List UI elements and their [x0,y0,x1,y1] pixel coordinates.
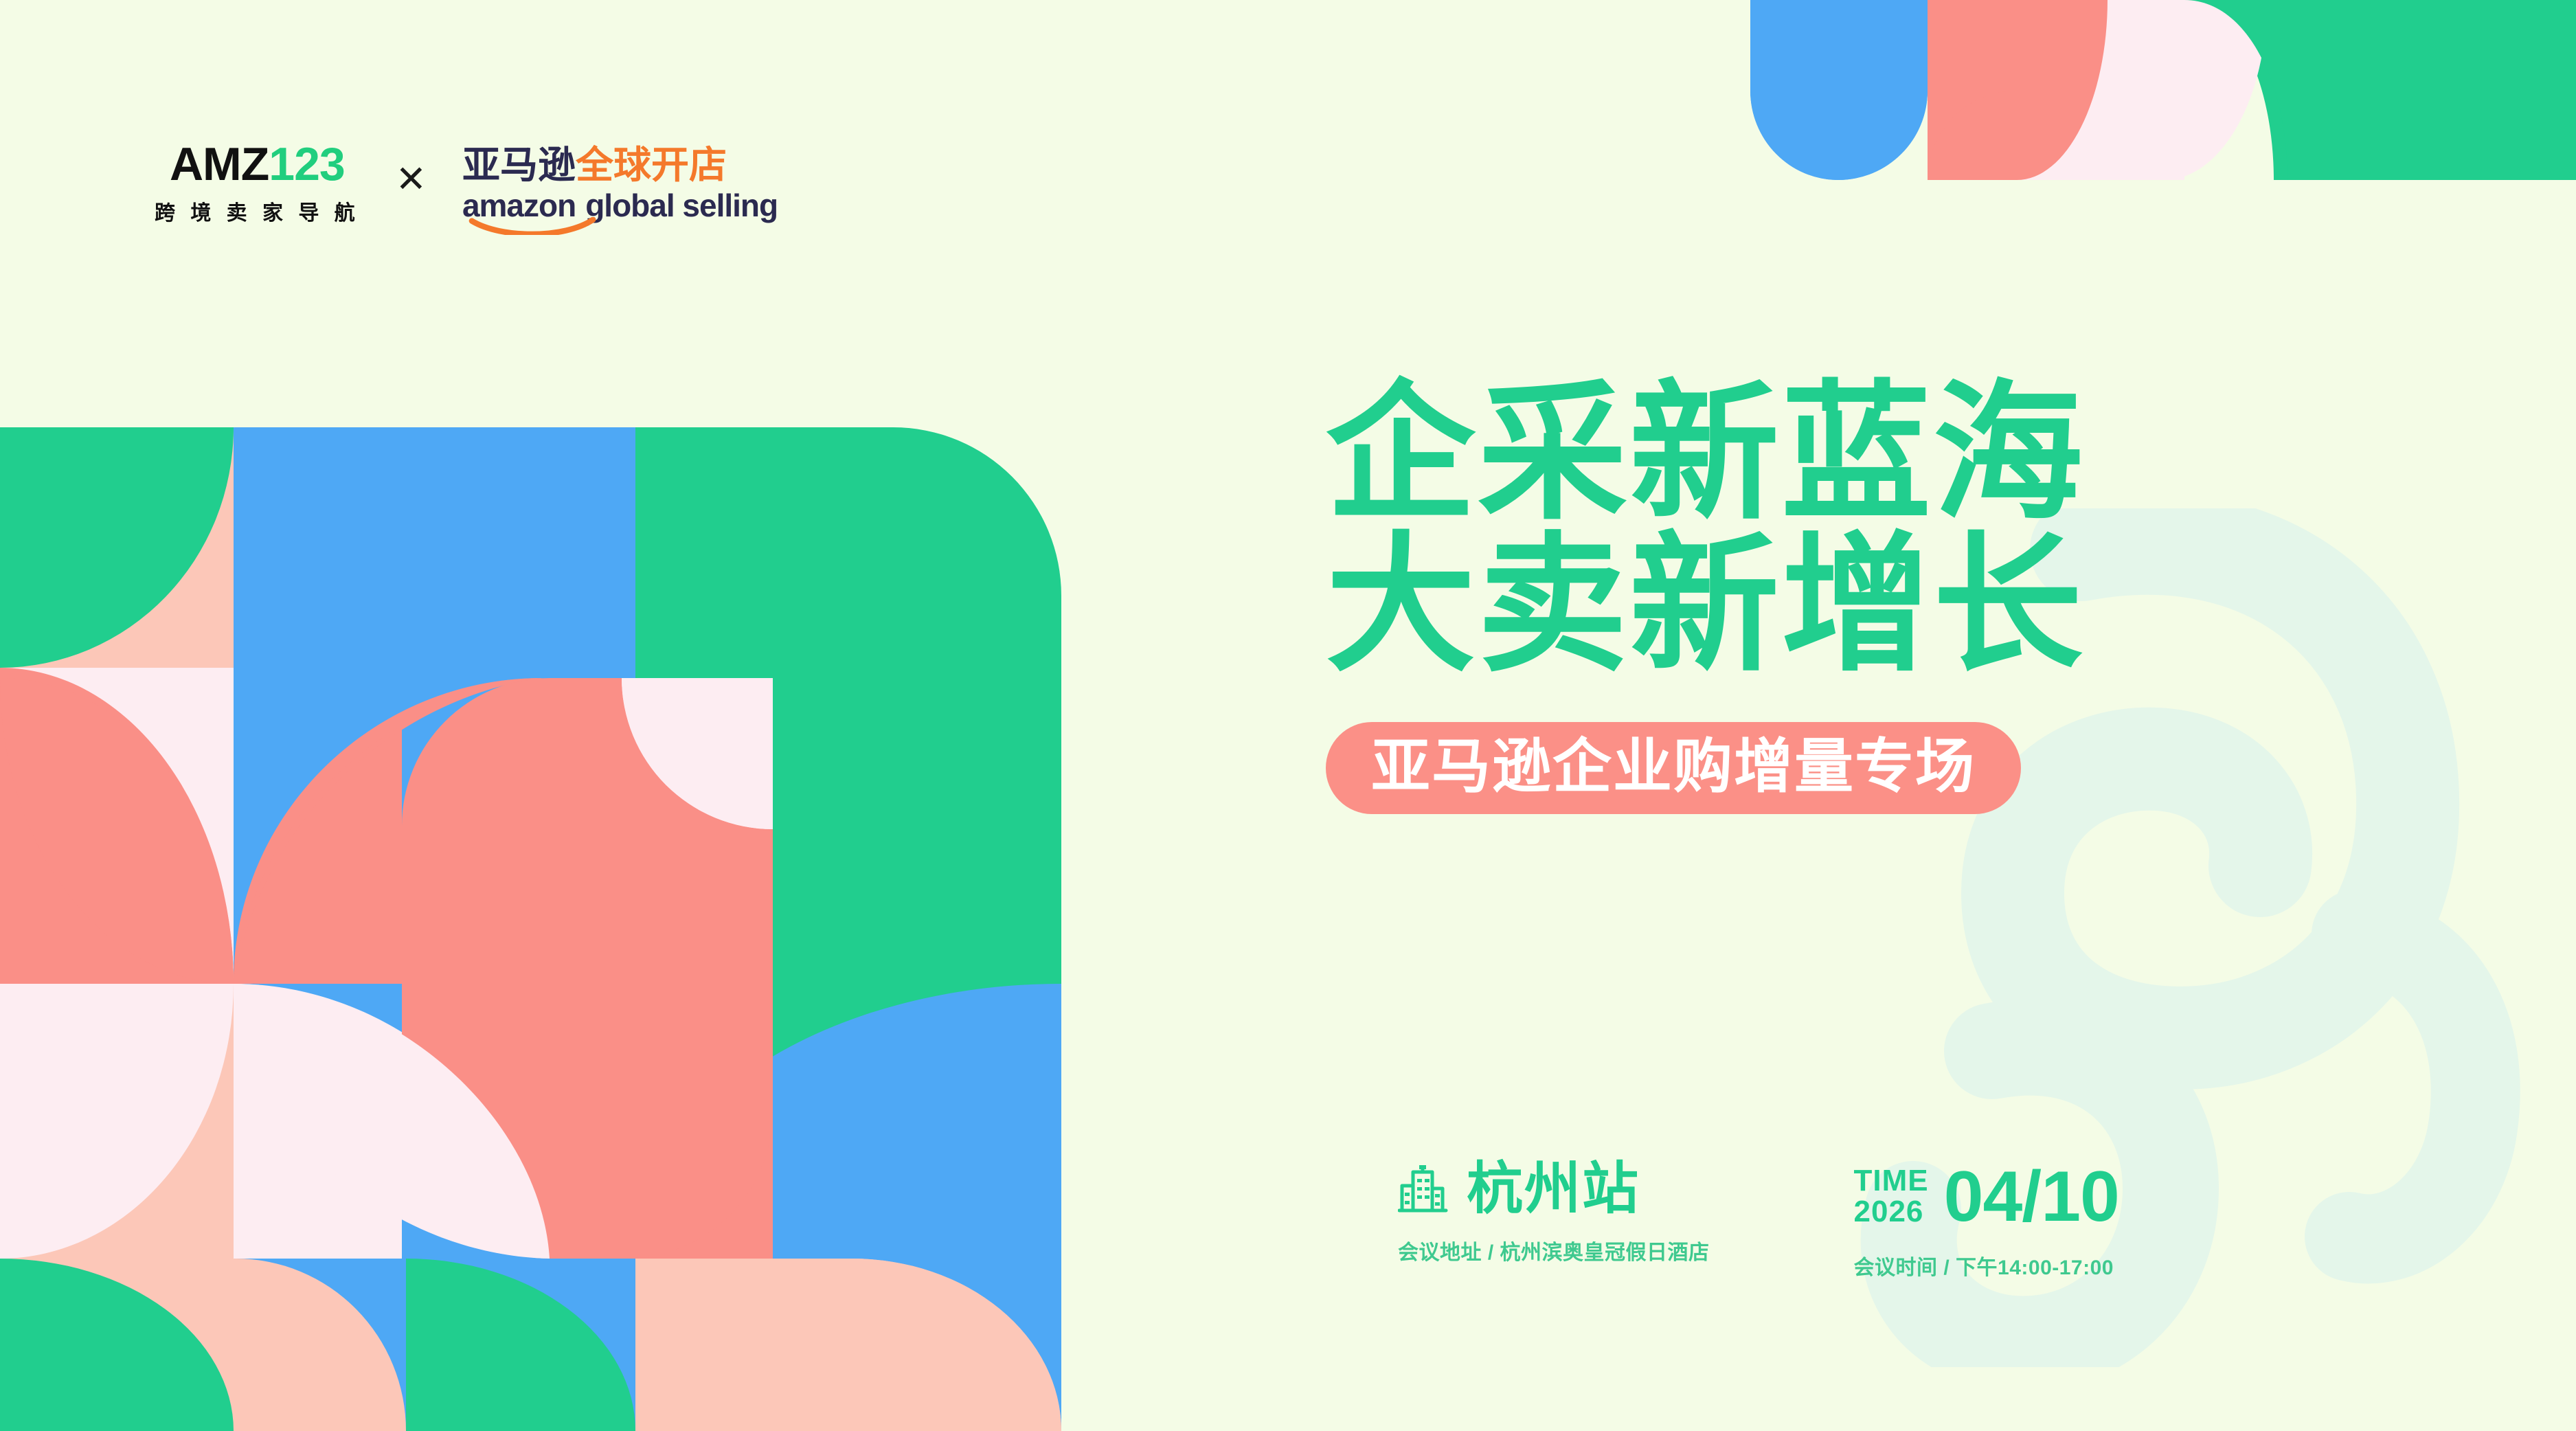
venue-address: 会议地址 / 杭州滨奥皇冠假日酒店 [1398,1235,1710,1265]
time-label-top: TIME [1854,1166,1929,1197]
amz123-word-dark: AMZ [170,141,269,188]
time-block: TIME 2026 04/10 会议时间 / 下午14:00-17:00 [1854,1161,2119,1281]
subtitle-pill-label: 亚马逊企业购增量专场 [1371,737,1976,796]
geometric-art-block [0,427,1061,1431]
logo-bar: AMZ123 跨 境 卖 家 导 航 ✕ 亚马逊全球开店 amazon glob… [155,141,778,226]
time-label-stack: TIME 2026 [1854,1166,1929,1228]
poster-canvas: AMZ123 跨 境 卖 家 导 航 ✕ 亚马逊全球开店 amazon glob… [0,0,2576,1431]
event-date: 04/10 [1944,1161,2119,1232]
amazon-cn-line: 亚马逊全球开店 [462,146,727,184]
amazon-smile-icon [465,217,601,235]
time-label-year: 2026 [1854,1197,1929,1228]
amazon-cn-orange: 全球开店 [576,146,727,184]
logo-separator-x-icon: ✕ [396,161,427,198]
subtitle-pill: 亚马逊企业购增量专场 [1326,722,2021,814]
amz123-logo[interactable]: AMZ123 跨 境 卖 家 导 航 [155,141,360,226]
event-time: 会议时间 / 下午14:00-17:00 [1854,1250,2119,1281]
building-icon [1398,1162,1451,1216]
headline-line-2: 大卖新增长 [1326,526,2494,685]
amz123-tagline: 跨 境 卖 家 导 航 [155,196,360,226]
amz123-wordmark: AMZ123 [170,141,345,188]
main-content: 企采新蓝海 大卖新增长 亚马逊企业购增量专场 [1326,374,2494,814]
amazon-en-line: amazon global selling [462,190,778,221]
venue-city: 杭州站 [1467,1161,1640,1217]
amazon-cn-navy: 亚马逊 [462,146,576,184]
venue-row: 杭州站 [1398,1161,1710,1217]
global-selling-wordmark: global selling [585,190,778,221]
venue-block: 杭州站 会议地址 / 杭州滨奥皇冠假日酒店 [1398,1161,1710,1265]
headline-line-1: 企采新蓝海 [1326,374,2494,533]
amz123-word-green: 123 [269,141,344,188]
amazon-global-selling-logo[interactable]: 亚马逊全球开店 amazon global selling [462,146,778,221]
time-row: TIME 2026 04/10 [1854,1161,2119,1232]
top-right-decoration [1745,0,2576,180]
event-info-bar: 杭州站 会议地址 / 杭州滨奥皇冠假日酒店 TIME 2026 04/10 会议… [1398,1161,2119,1281]
